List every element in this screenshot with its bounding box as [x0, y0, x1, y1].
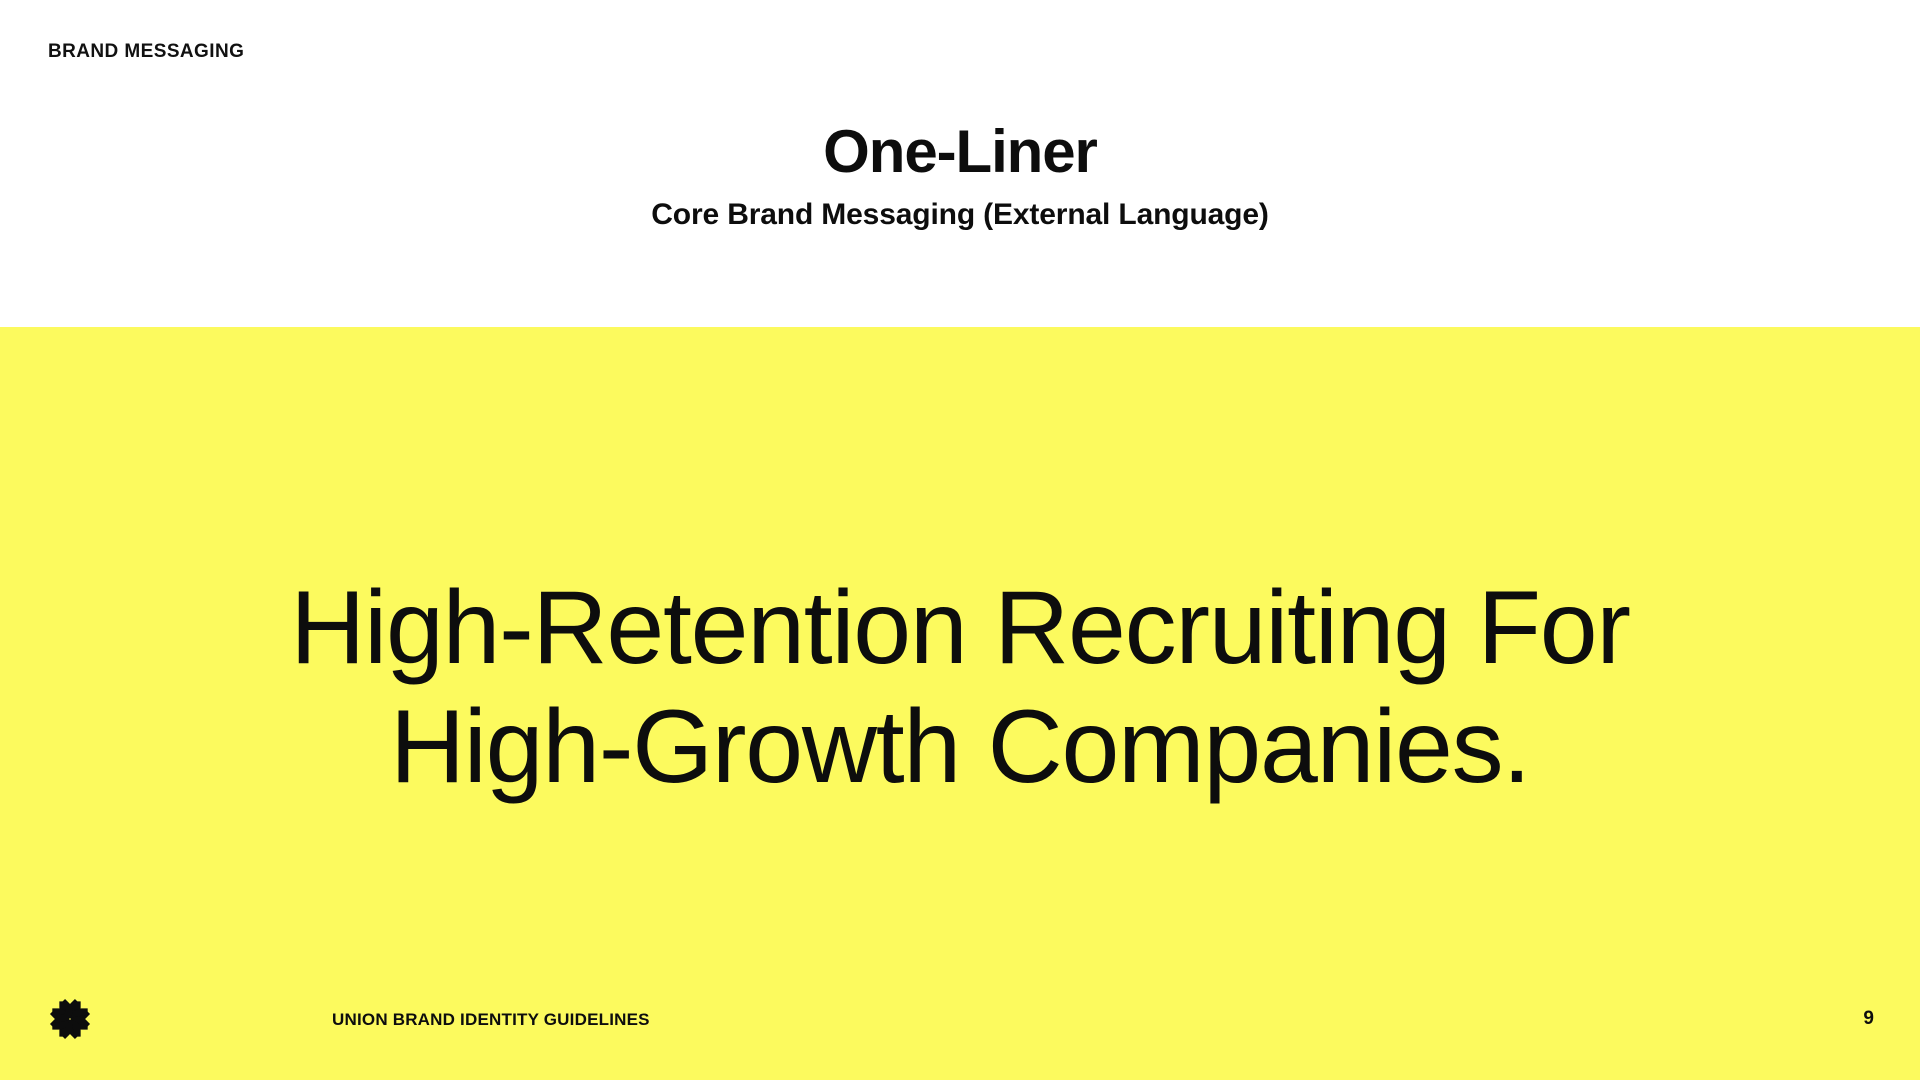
page-number: 9 [1863, 1008, 1874, 1030]
title-block: One-Liner Core Brand Messaging (External… [0, 122, 1920, 230]
one-liner-headline: High-Retention Recruiting For High-Growt… [0, 569, 1920, 806]
union-sunburst-logo [44, 993, 96, 1045]
slide: BRAND MESSAGING One-Liner Core Brand Mes… [0, 0, 1920, 1080]
yellow-content-band: High-Retention Recruiting For High-Growt… [0, 327, 1920, 1080]
section-eyebrow: BRAND MESSAGING [48, 41, 244, 63]
footer-document-title: UNION BRAND IDENTITY GUIDELINES [332, 1010, 650, 1030]
page-title: One-Liner [0, 122, 1920, 182]
page-subtitle: Core Brand Messaging (External Language) [0, 200, 1920, 230]
